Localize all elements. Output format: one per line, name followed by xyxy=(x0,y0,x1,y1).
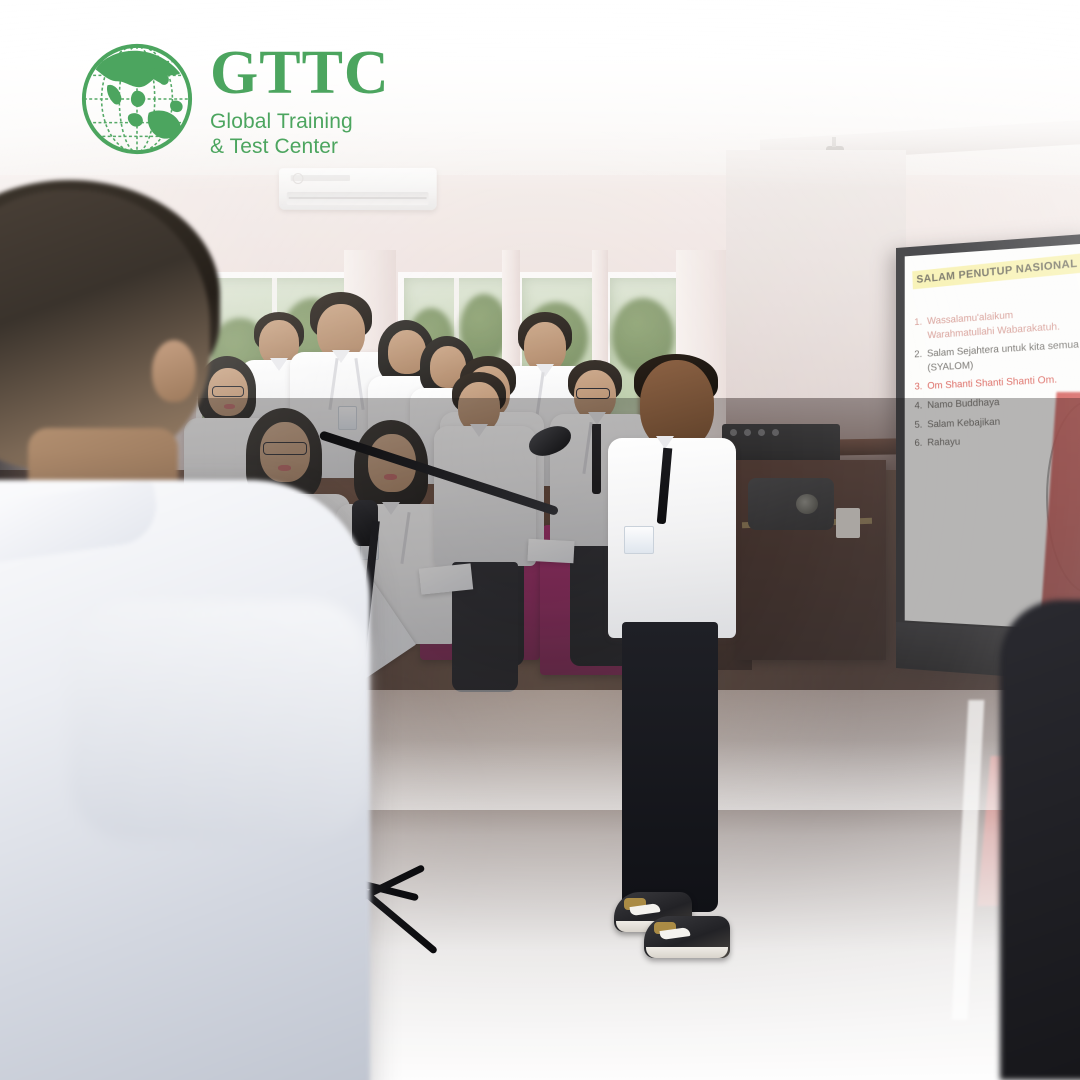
slide-item-number: 4. xyxy=(914,399,922,413)
slide-item-text: Salam Sejahtera untuk kita semua (SYALOM… xyxy=(927,339,1079,373)
slide-item-number: 5. xyxy=(914,418,922,432)
slide-item-text: Rahayu xyxy=(927,437,960,449)
slide-item: 3.Om Shanti Shanti Shanti Om. xyxy=(914,372,1080,394)
classroom-photograph: SALAM PENUTUP NASIONAL 1.Wassalamu'alaik… xyxy=(0,0,1080,1080)
slide-item-text: Wassalamu'alaikum Warahmatullahi Wabarak… xyxy=(927,310,1060,341)
logo-acronym: GTTC xyxy=(210,42,390,104)
speaker-person xyxy=(600,360,760,980)
speaker-head xyxy=(640,360,714,450)
paper-document xyxy=(527,539,574,563)
screenshot-root: SALAM PENUTUP NASIONAL 1.Wassalamu'alaik… xyxy=(0,0,1080,1080)
globe-icon xyxy=(78,40,196,158)
logo-tagline-line2: & Test Center xyxy=(210,136,390,157)
slide-item: 2.Salam Sejahtera untuk kita semua (SYAL… xyxy=(914,338,1080,376)
foreground-person-left xyxy=(0,180,440,1080)
projector-lens-icon xyxy=(796,494,818,514)
slide-item: 1.Wassalamu'alaikum Warahmatullahi Wabar… xyxy=(914,304,1080,344)
foreground-shoulder xyxy=(70,600,370,840)
logo-text: GTTC Global Training & Test Center xyxy=(210,42,390,157)
shoe xyxy=(644,916,730,958)
projector-unit xyxy=(748,478,834,530)
slide-item-number: 6. xyxy=(914,437,922,451)
slide-item-number: 2. xyxy=(914,348,922,362)
slide-item-text: Namo Buddhaya xyxy=(927,397,1000,411)
av-white-box xyxy=(836,508,860,538)
slide-item-number: 3. xyxy=(914,381,922,395)
foreground-person-right xyxy=(1000,600,1080,1080)
slide-item-number: 1. xyxy=(914,315,922,329)
gttc-logo: GTTC Global Training & Test Center xyxy=(78,40,390,158)
slide-item-text: Om Shanti Shanti Shanti Om. xyxy=(927,375,1057,393)
slide-title: SALAM PENUTUP NASIONAL xyxy=(912,252,1080,289)
foreground-ear xyxy=(152,340,196,402)
logo-tagline-line1: Global Training xyxy=(210,111,390,132)
speaker-trousers xyxy=(622,622,718,912)
slide-item-text: Salam Kebajikan xyxy=(927,416,1000,430)
